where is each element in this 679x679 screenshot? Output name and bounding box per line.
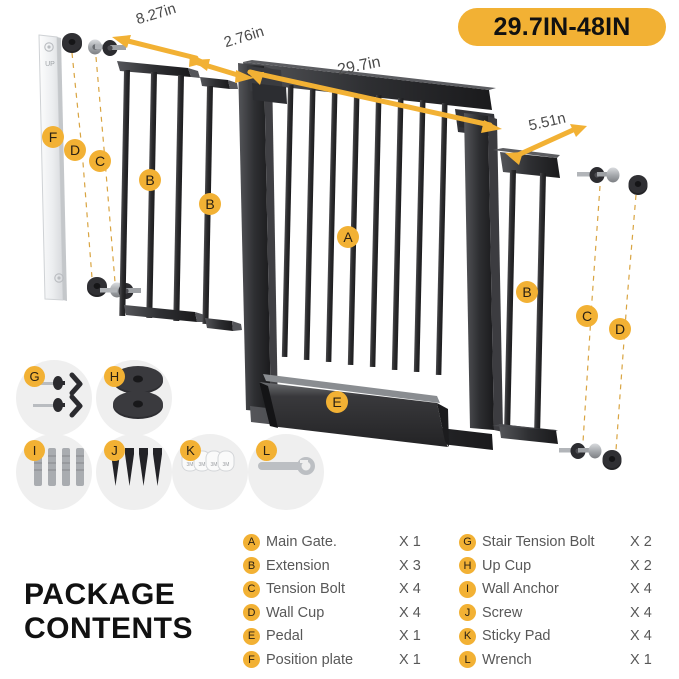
item-letter-badge: K: [459, 628, 476, 645]
list-item: E Pedal X 1: [243, 625, 443, 648]
list-item: G Stair Tension Bolt X 2: [459, 531, 674, 554]
item-letter-badge: A: [243, 534, 260, 551]
item-name: Tension Bolt: [266, 581, 345, 597]
item-qty: X 4: [630, 581, 674, 597]
item-name: Screw: [482, 605, 522, 621]
package-list-right: G Stair Tension Bolt X 2 H Up Cup X 2 I …: [459, 531, 674, 671]
package-list-left: A Main Gate. X 1 B Extension X 3 C Tensi…: [243, 531, 443, 671]
item-qty: X 4: [399, 581, 443, 597]
item-name: Pedal: [266, 628, 303, 644]
item-qty: X 1: [399, 534, 443, 550]
item-qty: X 1: [399, 652, 443, 668]
accessory-badge-l: L: [256, 440, 277, 461]
item-letter-badge: J: [459, 604, 476, 621]
item-name: Wall Cup: [266, 605, 324, 621]
item-qty: X 4: [630, 605, 674, 621]
list-item: B Extension X 3: [243, 555, 443, 578]
item-qty: X 2: [630, 558, 674, 574]
list-item: K Sticky Pad X 4: [459, 625, 674, 648]
item-name: Wrench: [482, 652, 532, 668]
item-name: Wall Anchor: [482, 581, 559, 597]
package-title-line-2: CONTENTS: [24, 612, 234, 646]
list-item: J Screw X 4: [459, 602, 674, 625]
item-qty: X 1: [630, 652, 674, 668]
item-name: Stair Tension Bolt: [482, 534, 595, 550]
item-qty: X 1: [399, 628, 443, 644]
item-letter-badge: F: [243, 651, 260, 668]
item-name: Sticky Pad: [482, 628, 551, 644]
item-name: Main Gate.: [266, 534, 337, 550]
item-letter-badge: E: [243, 628, 260, 645]
item-letter-badge: H: [459, 557, 476, 574]
list-item: C Tension Bolt X 4: [243, 578, 443, 601]
item-letter-badge: D: [243, 604, 260, 621]
package-contents-title: PACKAGE CONTENTS: [24, 578, 234, 645]
list-item: D Wall Cup X 4: [243, 602, 443, 625]
item-qty: X 4: [399, 605, 443, 621]
list-item: F Position plate X 1: [243, 649, 443, 672]
item-name: Up Cup: [482, 558, 531, 574]
package-title-line-1: PACKAGE: [24, 578, 234, 612]
list-item: A Main Gate. X 1: [243, 531, 443, 554]
item-name: Position plate: [266, 652, 353, 668]
list-item: I Wall Anchor X 4: [459, 578, 674, 601]
list-item: H Up Cup X 2: [459, 555, 674, 578]
item-letter-badge: I: [459, 581, 476, 598]
item-letter-badge: C: [243, 581, 260, 598]
item-letter-badge: B: [243, 557, 260, 574]
item-qty: X 4: [630, 628, 674, 644]
list-item: L Wrench X 1: [459, 649, 674, 672]
item-letter-badge: L: [459, 651, 476, 668]
item-letter-badge: G: [459, 534, 476, 551]
item-name: Extension: [266, 558, 330, 574]
item-qty: X 2: [630, 534, 674, 550]
item-qty: X 3: [399, 558, 443, 574]
product-diagram-page: 29.7IN-48IN: [0, 0, 679, 679]
